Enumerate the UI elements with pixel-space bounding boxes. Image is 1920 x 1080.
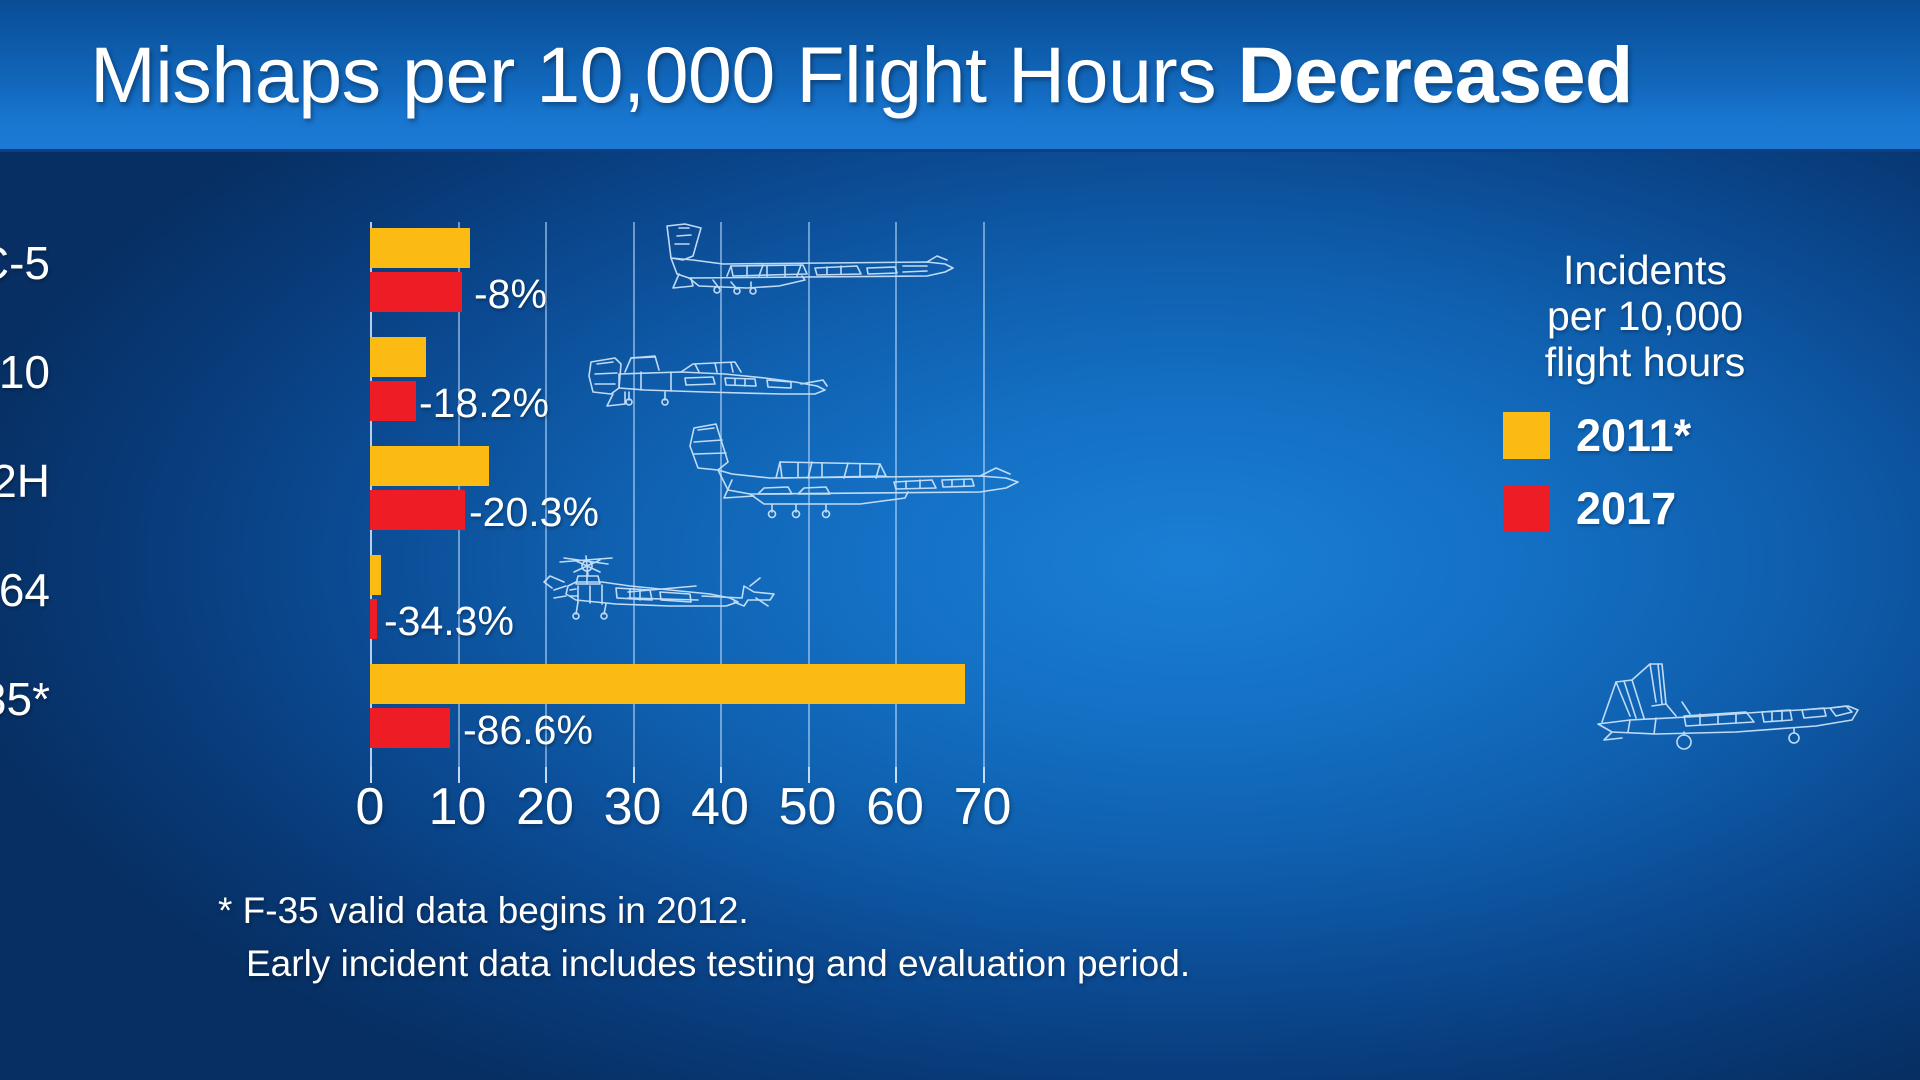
category-label-c5: C-5 (0, 240, 50, 286)
bar-2011-c5 (370, 228, 470, 268)
category-label-f35: F-35* (0, 676, 50, 722)
x-axis: 0 10 20 30 40 50 60 70 (370, 767, 1610, 837)
bar-2017-ah64 (370, 599, 377, 639)
legend-swatch-2017 (1503, 485, 1550, 532)
delta-label-c5: -8% (474, 274, 547, 315)
page-title: Mishaps per 10,000 Flight Hours Decrease… (90, 35, 1633, 114)
legend-swatch-2011 (1503, 412, 1550, 459)
title-bar: Mishaps per 10,000 Flight Hours Decrease… (0, 0, 1920, 152)
bar-2017-f35 (370, 708, 450, 748)
title-strong-part: Decreased (1238, 30, 1633, 119)
category-label-b52h: B-52H (0, 458, 50, 504)
chart-row-b52h: B-52H -20.3% (370, 440, 1610, 549)
delta-label-a10: -18.2% (419, 383, 549, 424)
legend-item-2017: 2017 (1455, 485, 1835, 532)
infographic-poster: Mishaps per 10,000 Flight Hours Decrease… (0, 0, 1920, 1080)
bar-2011-ah64 (370, 555, 381, 595)
category-label-a10: A-10 (0, 349, 50, 395)
legend-label-2011: 2011* (1576, 413, 1691, 458)
legend-label-2017: 2017 (1576, 486, 1676, 531)
footnote: * F-35 valid data begins in 2012. Early … (218, 885, 1190, 990)
title-light-part: Mishaps per 10,000 Flight Hours (90, 30, 1238, 119)
chart-plot-area: C-5 -8% A-10 -18.2% B-52H -20.3% AH-64 -… (370, 222, 1610, 767)
footnote-line-1: * F-35 valid data begins in 2012. (218, 890, 749, 931)
chart-row-a10: A-10 -18.2% (370, 331, 1610, 440)
chart-row-c5: C-5 -8% (370, 222, 1610, 331)
chart-row-ah64: AH-64 -34.3% (370, 549, 1610, 658)
legend-heading: Incidents per 10,000 flight hours (1455, 248, 1835, 386)
delta-label-ah64: -34.3% (384, 601, 514, 642)
bar-2017-b52h (370, 490, 465, 530)
delta-label-f35: -86.6% (463, 710, 593, 751)
bar-2017-a10 (370, 381, 416, 421)
footnote-line-2: Early incident data includes testing and… (218, 938, 1190, 991)
category-label-ah64: AH-64 (0, 567, 50, 613)
bar-2011-f35 (370, 664, 965, 704)
bar-2011-b52h (370, 446, 489, 486)
bar-2011-a10 (370, 337, 426, 377)
delta-label-b52h: -20.3% (469, 492, 599, 533)
legend-item-2011: 2011* (1455, 412, 1835, 459)
x-tick-label-70: 70 (923, 781, 1043, 833)
chart-legend: Incidents per 10,000 flight hours 2011* … (1455, 248, 1835, 532)
f35-lightning-silhouette (1586, 644, 1866, 754)
bar-2017-c5 (370, 272, 462, 312)
chart-row-f35: F-35* -86.6% (370, 658, 1610, 767)
